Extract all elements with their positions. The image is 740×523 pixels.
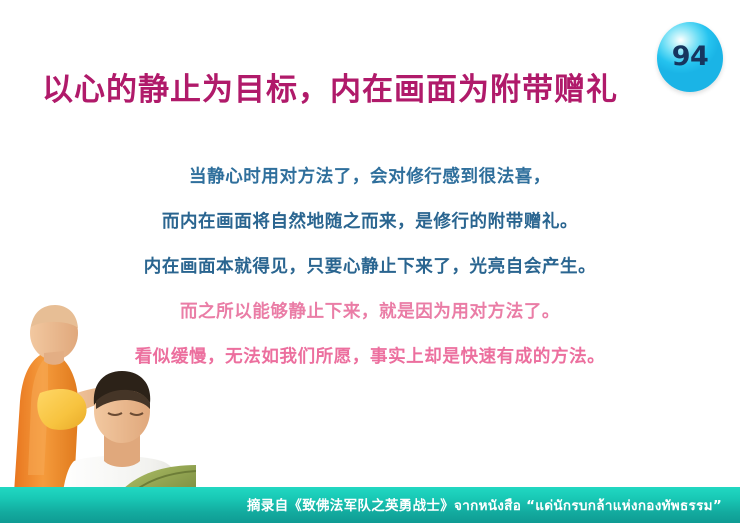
monk-sash — [37, 389, 86, 430]
body-line-3: 内在画面本就得见，只要心静止下来了，光亮自会产生。 — [0, 245, 740, 290]
page-title: 以心的静止为目标，内在画面为附带赠礼 — [0, 64, 660, 109]
body-line-1: 当静心时用对方法了，会对修行感到很法喜， — [0, 155, 740, 200]
page-number-badge: 94 — [657, 22, 723, 92]
footer-bar: 摘录自《致佛法军队之英勇战士》จากหนังสือ “แด่นักรบกล้าแ… — [0, 487, 740, 523]
slide-canvas: 94 以心的静止为目标，内在画面为附带赠礼 当静心时用对方法了，会对修行感到很法… — [0, 0, 740, 523]
monk-neck — [44, 351, 64, 365]
page-number-label: 94 — [672, 43, 709, 70]
footer-source-text: 摘录自《致佛法军队之英勇战士》จากหนังสือ “แด่นักรบกล้าแ… — [247, 494, 740, 516]
body-line-2: 而内在画面将自然地随之而来，是修行的附带赠礼。 — [0, 200, 740, 245]
